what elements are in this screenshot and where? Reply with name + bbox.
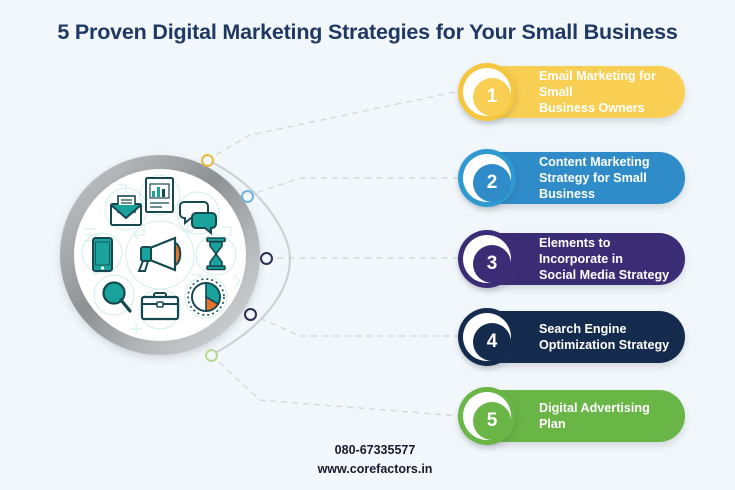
strategy-label-3-line2: Social Media Strategy xyxy=(539,267,671,283)
badge-white-ring-2: 2 xyxy=(463,154,511,202)
strategy-badge-3: 3 xyxy=(458,230,516,288)
strategy-bar-3[interactable]: 3 Elements to Incorporate in Social Medi… xyxy=(463,233,685,285)
badge-white-ring-1: 1 xyxy=(463,68,511,116)
magnifier-icon xyxy=(104,283,131,312)
strategy-label-4-line1: Search Engine xyxy=(539,321,671,337)
strategy-badge-5: 5 xyxy=(458,387,516,445)
hourglass-icon xyxy=(207,238,225,270)
footer-phone: 080-67335577 xyxy=(255,441,495,460)
strategy-label-2-line2: Strategy for Small Business xyxy=(539,170,671,202)
node-3[interactable] xyxy=(260,252,273,265)
strategy-badge-4: 4 xyxy=(458,308,516,366)
footer-contact: 080-67335577 www.corefactors.in xyxy=(255,441,495,480)
strategy-number-5: 5 xyxy=(473,402,511,440)
strategy-label-1-line1: Email Marketing for Small xyxy=(539,68,671,100)
strategy-bar-2[interactable]: 2 Content Marketing Strategy for Small B… xyxy=(463,152,685,204)
smartphone-icon xyxy=(93,238,112,271)
strategy-badge-1: 1 xyxy=(458,63,516,121)
strategy-label-1-line2: Business Owners xyxy=(539,100,671,116)
node-4[interactable] xyxy=(244,308,257,321)
strategy-bar-4[interactable]: 4 Search Engine Optimization Strategy xyxy=(463,311,685,363)
infographic-canvas: 5 Proven Digital Marketing Strategies fo… xyxy=(0,0,735,490)
strategy-number-3: 3 xyxy=(473,245,511,283)
badge-white-ring-5: 5 xyxy=(463,392,511,440)
strategy-number-1: 1 xyxy=(473,78,511,116)
speech-bubbles-icon xyxy=(180,202,216,233)
strategy-label-2-line1: Content Marketing xyxy=(539,154,671,170)
icon-cluster-area xyxy=(74,169,246,341)
strategy-label-3-line1: Elements to Incorporate in xyxy=(539,235,671,267)
digital-marketing-icon-circle xyxy=(60,155,265,360)
pie-chart-icon xyxy=(188,279,224,315)
strategy-label-5-line1: Digital Advertising Plan xyxy=(539,400,671,432)
strategy-label-1: Email Marketing for Small Business Owner… xyxy=(539,66,671,118)
strategy-badge-2: 2 xyxy=(458,149,516,207)
footer-website[interactable]: www.corefactors.in xyxy=(255,460,495,479)
briefcase-icon xyxy=(142,293,178,319)
strategy-bar-1[interactable]: 1 Email Marketing for Small Business Own… xyxy=(463,66,685,118)
badge-white-ring-4: 4 xyxy=(463,313,511,361)
megaphone-icon xyxy=(139,238,180,271)
strategy-number-4: 4 xyxy=(473,323,511,361)
envelope-icon xyxy=(111,196,141,225)
strategy-label-4-line2: Optimization Strategy xyxy=(539,337,671,353)
document-chart-icon xyxy=(146,178,173,212)
node-2[interactable] xyxy=(241,190,254,203)
strategy-number-2: 2 xyxy=(473,164,511,202)
node-1[interactable] xyxy=(201,154,214,167)
strategy-label-3: Elements to Incorporate in Social Media … xyxy=(539,233,671,285)
strategy-label-4: Search Engine Optimization Strategy xyxy=(539,311,671,363)
strategy-label-2: Content Marketing Strategy for Small Bus… xyxy=(539,152,671,204)
strategy-label-5: Digital Advertising Plan xyxy=(539,390,671,442)
badge-white-ring-3: 3 xyxy=(463,235,511,283)
strategy-bar-5[interactable]: 5 Digital Advertising Plan xyxy=(463,390,685,442)
node-5[interactable] xyxy=(205,349,218,362)
